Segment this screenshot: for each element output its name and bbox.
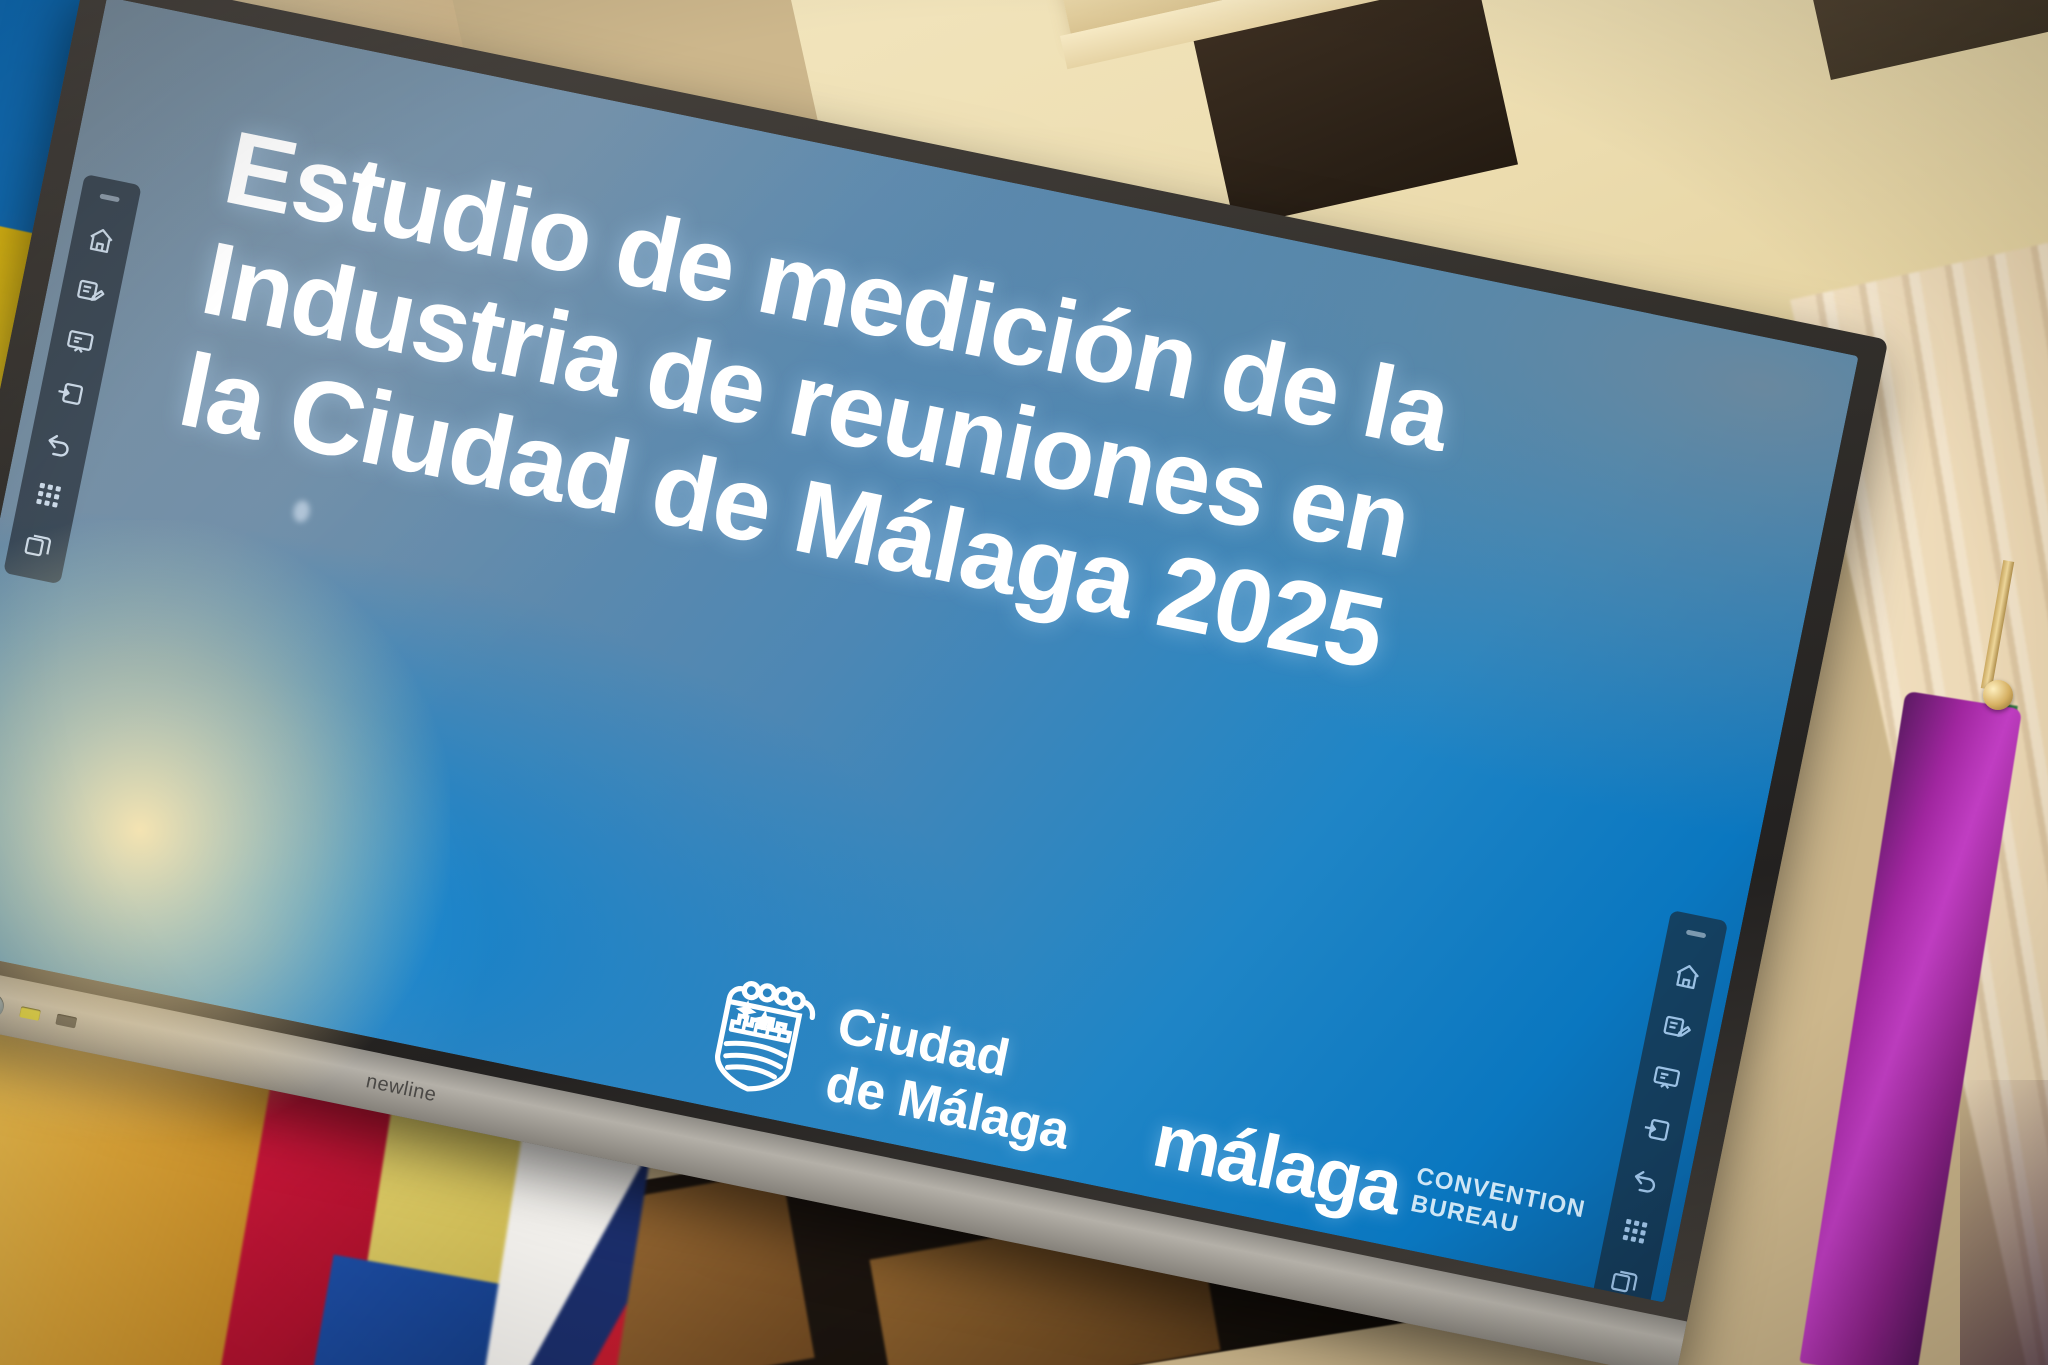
corner-shadow [1960,1080,2048,1365]
usb-port-2[interactable] [55,1014,77,1029]
newline-brand-logo: newline [364,1070,438,1107]
gold-finial [1983,680,2013,710]
home-icon[interactable] [83,223,118,258]
whiteboard-note-icon[interactable] [73,274,108,309]
back-arrow-icon[interactable] [41,427,76,462]
multitask-windows-icon[interactable] [1607,1264,1642,1299]
apps-grid-icon[interactable] [31,478,66,513]
screen-share-icon[interactable] [62,325,97,360]
screen-share-icon[interactable] [1649,1061,1684,1096]
port-cluster [0,983,79,1035]
power-button[interactable] [0,991,6,1021]
mcb-wordmark: málaga [1148,1109,1406,1223]
toolbar-drag-handle[interactable] [99,193,120,202]
mcb-subtitle: CONVENTION BUREAU [1407,1163,1588,1260]
toolbar-drag-handle[interactable] [1686,929,1707,938]
input-source-icon[interactable] [1638,1112,1673,1147]
usb-port-yellow[interactable] [19,1006,41,1021]
multitask-windows-icon[interactable] [20,528,55,563]
whiteboard-note-icon[interactable] [1659,1010,1694,1045]
screen-dust-speck [292,499,312,524]
home-icon[interactable] [1670,959,1705,994]
ciudad-de-malaga-wordmark: Ciudad de Málaga [821,997,1086,1161]
input-source-icon[interactable] [52,376,87,411]
back-arrow-icon[interactable] [1628,1163,1663,1198]
screenshot-root: Estudio de medición de la Industria de r… [0,0,2048,1365]
malaga-coat-of-arms-icon [697,969,823,1108]
apps-grid-icon[interactable] [1617,1214,1652,1249]
